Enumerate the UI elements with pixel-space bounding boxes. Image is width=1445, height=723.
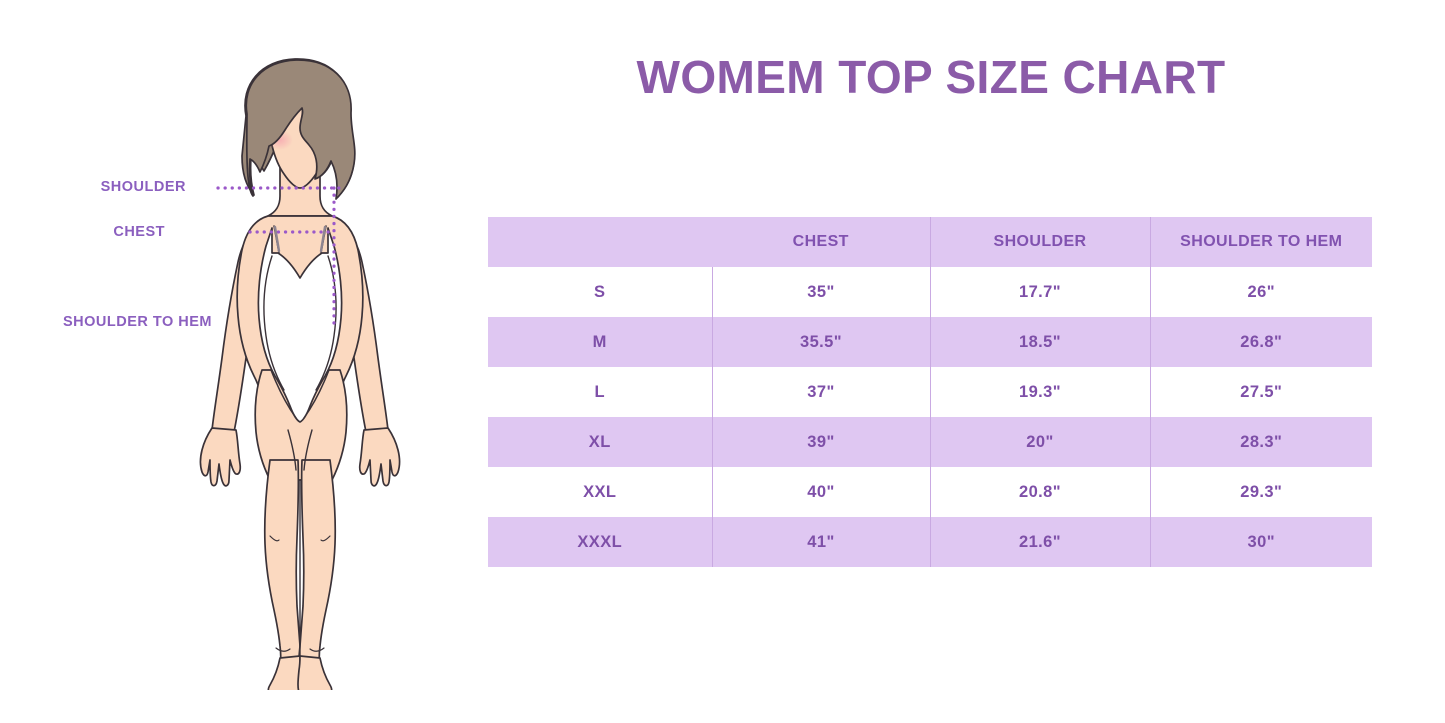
cell-size: M (488, 317, 712, 367)
size-chart-page: WOMEM TOP SIZE CHART SHOULDER CHEST SHOU… (0, 0, 1445, 723)
column-header-size (488, 217, 712, 267)
leg-right (299, 460, 335, 672)
measurement-label-chest: CHEST (0, 224, 165, 240)
hand-right (360, 428, 400, 486)
table-row: L 37" 19.3" 27.5" (488, 367, 1372, 417)
cell-shoulder: 20" (930, 417, 1150, 467)
column-header-shoulder-to-hem: SHOULDER TO HEM (1150, 217, 1372, 267)
table-header: CHEST SHOULDER SHOULDER TO HEM (488, 217, 1372, 267)
cell-size: L (488, 367, 712, 417)
cell-chest: 35" (712, 267, 930, 317)
table-header-row: CHEST SHOULDER SHOULDER TO HEM (488, 217, 1372, 267)
table-row: S 35" 17.7" 26" (488, 267, 1372, 317)
cell-shoulder: 17.7" (930, 267, 1150, 317)
column-header-shoulder: SHOULDER (930, 217, 1150, 267)
foot-right (298, 656, 332, 690)
table-row: XXL 40" 20.8" 29.3" (488, 467, 1372, 517)
cell-shoulder: 18.5" (930, 317, 1150, 367)
cell-size: XL (488, 417, 712, 467)
table-row: XXXL 41" 21.6" 30" (488, 517, 1372, 567)
cell-shoulder-to-hem: 28.3" (1150, 417, 1372, 467)
cell-size: XXL (488, 467, 712, 517)
cell-shoulder-to-hem: 29.3" (1150, 467, 1372, 517)
size-chart-table: CHEST SHOULDER SHOULDER TO HEM S 35" 17.… (488, 217, 1372, 567)
column-header-chest: CHEST (712, 217, 930, 267)
hand-left (201, 428, 241, 486)
cell-shoulder-to-hem: 26" (1150, 267, 1372, 317)
cell-chest: 41" (712, 517, 930, 567)
female-figure-svg (150, 40, 450, 690)
cell-shoulder: 19.3" (930, 367, 1150, 417)
cell-chest: 40" (712, 467, 930, 517)
table-body: S 35" 17.7" 26" M 35.5" 18.5" 26.8" L 37… (488, 267, 1372, 567)
cell-shoulder-to-hem: 30" (1150, 517, 1372, 567)
table-row: M 35.5" 18.5" 26.8" (488, 317, 1372, 367)
foot-left (268, 656, 302, 690)
cell-shoulder: 20.8" (930, 467, 1150, 517)
cell-chest: 37" (712, 367, 930, 417)
cell-shoulder: 21.6" (930, 517, 1150, 567)
page-title: WOMEM TOP SIZE CHART (486, 50, 1376, 104)
leg-left (265, 460, 301, 672)
cell-shoulder-to-hem: 26.8" (1150, 317, 1372, 367)
table-row: XL 39" 20" 28.3" (488, 417, 1372, 467)
female-body-illustration (150, 40, 450, 690)
cell-size: S (488, 267, 712, 317)
cell-shoulder-to-hem: 27.5" (1150, 367, 1372, 417)
cell-chest: 39" (712, 417, 930, 467)
cell-chest: 35.5" (712, 317, 930, 367)
cell-size: XXXL (488, 517, 712, 567)
